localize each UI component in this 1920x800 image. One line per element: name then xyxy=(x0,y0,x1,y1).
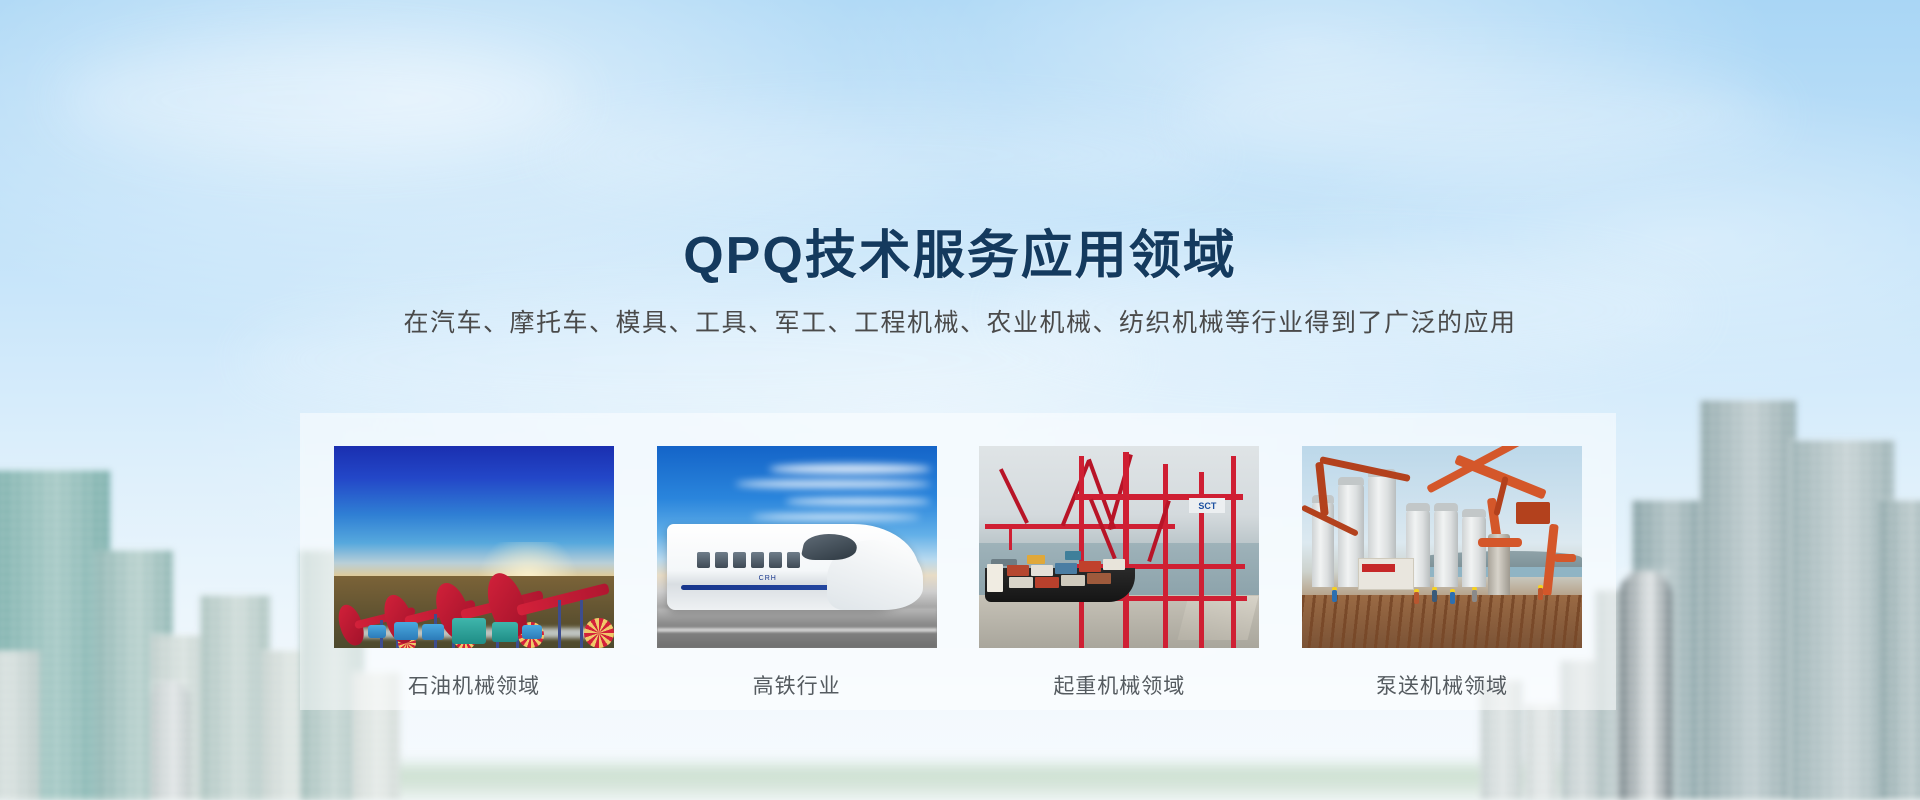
high-speed-train-photo[interactable]: CRH xyxy=(657,446,937,648)
application-card-label: 高铁行业 xyxy=(657,670,937,700)
application-card[interactable]: 泵送机械领域 xyxy=(1302,446,1582,686)
building-rounded xyxy=(150,680,190,800)
concrete-pump-machinery-photo[interactable] xyxy=(1302,446,1582,648)
application-card-label: 石油机械领域 xyxy=(334,670,614,700)
train-mark: CRH xyxy=(759,575,777,582)
application-card[interactable]: 石油机械领域 xyxy=(334,446,614,686)
application-card-label: 起重机械领域 xyxy=(979,670,1259,700)
building xyxy=(0,650,40,800)
building-rounded xyxy=(1618,570,1672,800)
page-subtitle: 在汽车、摩托车、模具、工具、军工、工程机械、农业机械、纺织机械等行业得到了广泛的… xyxy=(0,307,1920,340)
application-card[interactable]: CRH 高铁行业 xyxy=(657,446,937,686)
building xyxy=(200,595,270,800)
application-card-list: 石油机械领域 CRH xyxy=(334,446,1582,686)
building xyxy=(1700,400,1796,800)
building xyxy=(1524,704,1558,800)
crane-mark: SCT xyxy=(1189,498,1225,513)
hero-text-block: QPQ技术服务应用领域 在汽车、摩托车、模具、工具、军工、工程机械、农业机械、纺… xyxy=(0,0,1920,340)
oil-pumpjacks-sunset-photo[interactable] xyxy=(334,446,614,648)
application-card[interactable]: SCT 起重机械领域 xyxy=(979,446,1259,686)
building xyxy=(1878,500,1920,800)
port-gantry-cranes-photo[interactable]: SCT xyxy=(979,446,1259,648)
application-card-label: 泵送机械领域 xyxy=(1302,670,1582,700)
page-title: QPQ技术服务应用领域 xyxy=(0,228,1920,285)
